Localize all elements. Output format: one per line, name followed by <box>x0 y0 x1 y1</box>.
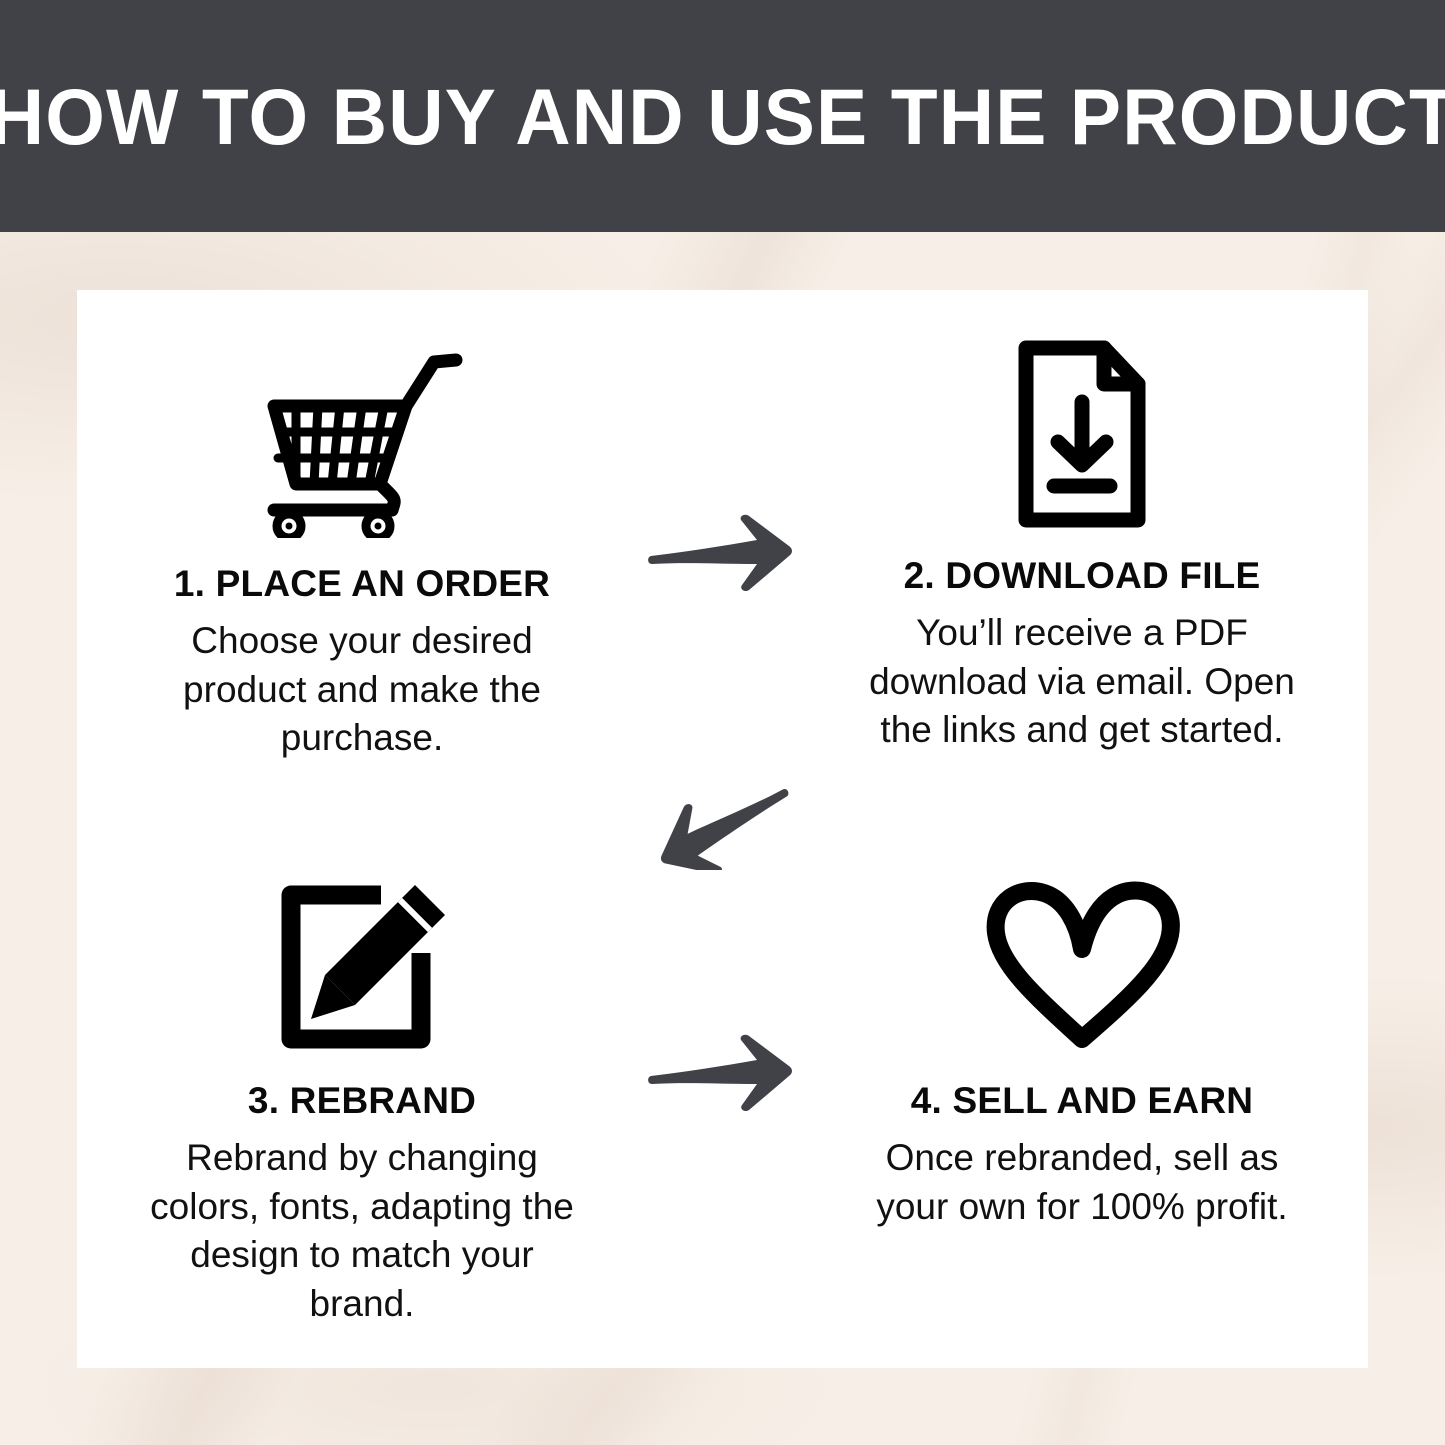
step-title: 2. DOWNLOAD FILE <box>852 556 1312 597</box>
step-body: Choose your desired product and make the… <box>132 617 592 763</box>
header-bar: HOW TO BUY AND USE THE PRODUCT <box>0 0 1445 232</box>
edit-pencil-square-icon <box>132 835 592 1055</box>
step-title: 1. PLACE AN ORDER <box>132 564 592 605</box>
page-title: HOW TO BUY AND USE THE PRODUCT <box>0 77 1445 156</box>
arrow-down-left-middle-icon <box>647 770 797 870</box>
step-body: You’ll receive a PDF download via email.… <box>852 609 1312 755</box>
step-item-1: 1. PLACE AN ORDER Choose your desired pr… <box>132 318 592 763</box>
arrow-right-bottom-icon <box>645 1032 795 1114</box>
content-card: 1. PLACE AN ORDER Choose your desired pr… <box>77 290 1368 1368</box>
step-body: Once rebranded, sell as your own for 100… <box>852 1134 1312 1232</box>
file-download-icon <box>852 310 1312 530</box>
infographic-poster: HOW TO BUY AND USE THE PRODUCT <box>0 0 1445 1445</box>
step-item-3: 3. REBRAND Rebrand by changing colors, f… <box>132 835 592 1329</box>
step-title: 3. REBRAND <box>132 1081 592 1122</box>
arrow-right-top-icon <box>645 512 795 594</box>
steps-grid: 1. PLACE AN ORDER Choose your desired pr… <box>77 290 1368 1368</box>
step-body: Rebrand by changing colors, fonts, adapt… <box>132 1134 592 1329</box>
shopping-cart-icon <box>132 318 592 538</box>
heart-icon <box>852 835 1312 1055</box>
step-item-4: 4. SELL AND EARN Once rebranded, sell as… <box>852 835 1312 1231</box>
step-title: 4. SELL AND EARN <box>852 1081 1312 1122</box>
step-item-2: 2. DOWNLOAD FILE You’ll receive a PDF do… <box>852 310 1312 755</box>
